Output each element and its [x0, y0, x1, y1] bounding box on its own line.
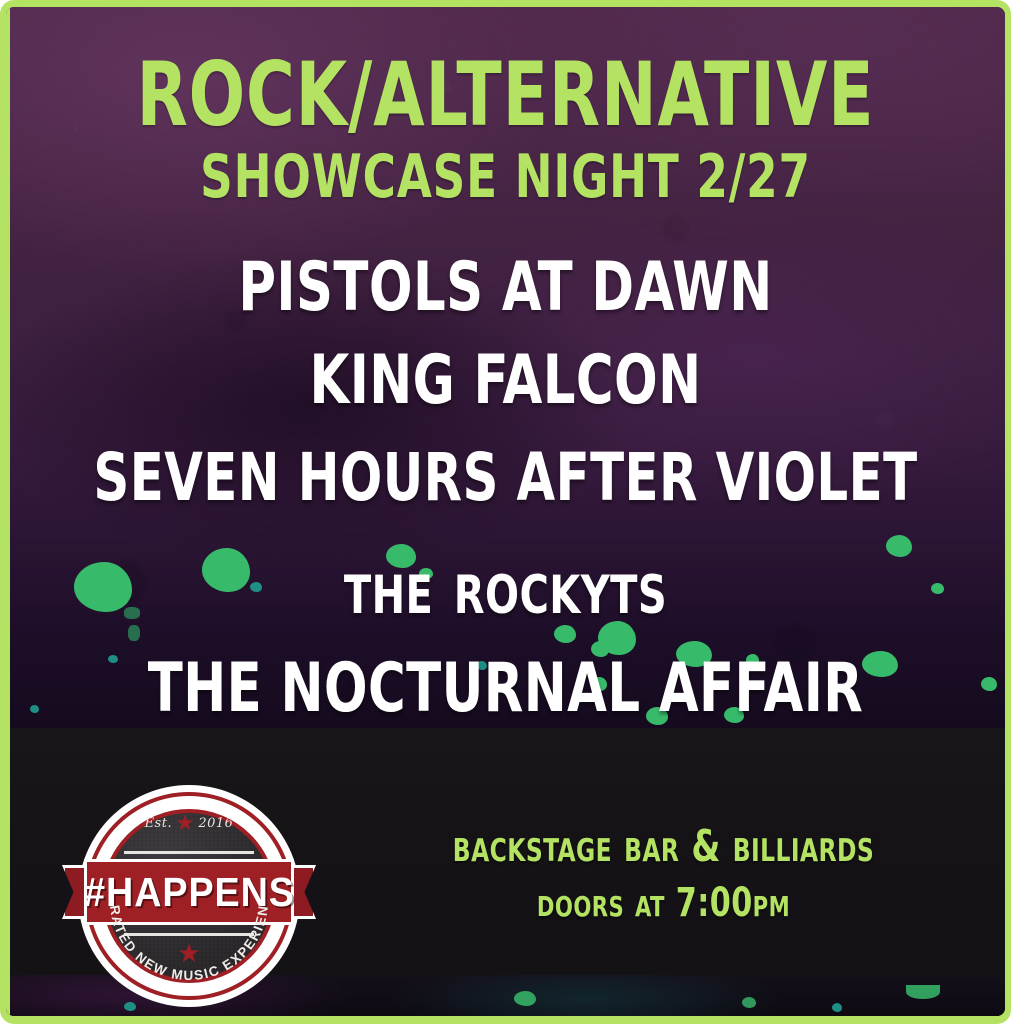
venue-info-block: Backstage Bar & Billiards Doors at 7:00p… [336, 825, 991, 923]
lineup-band-name: The Rockyts [86, 549, 925, 625]
happens-logo-badge: Est.★2016 ★ #HAPPENS CURATED NEW MUSIC E… [78, 785, 300, 1007]
poster-subtitle: SHOWCASE NIGHT 2/27 [86, 147, 925, 207]
badge-tagline-arc: CURATED NEW MUSIC EXPERIENCE [78, 785, 300, 1007]
venue-name: Backstage Bar & Billiards [388, 825, 938, 869]
lineup-band-name: PISTOLS AT DAWN [86, 254, 925, 322]
badge-tagline: CURATED NEW MUSIC EXPERIENCE [72, 773, 271, 983]
concert-poster: ROCK/ALTERNATIVE SHOWCASE NIGHT 2/27 PIS… [0, 0, 1011, 1024]
lineup-band-name: KING FALCON [86, 347, 925, 415]
lineup-band-name: THE NOCTURNAL AFFAIR [86, 655, 925, 723]
doors-time: Doors at 7:00pm [388, 883, 938, 923]
poster-title: ROCK/ALTERNATIVE [86, 51, 925, 139]
left-edge-accent-stripe [6, 7, 10, 1016]
poster-canvas: ROCK/ALTERNATIVE SHOWCASE NIGHT 2/27 PIS… [6, 7, 1005, 1016]
lineup-band-name: SEVEN HOURS AFTER VIOLET [86, 445, 925, 511]
